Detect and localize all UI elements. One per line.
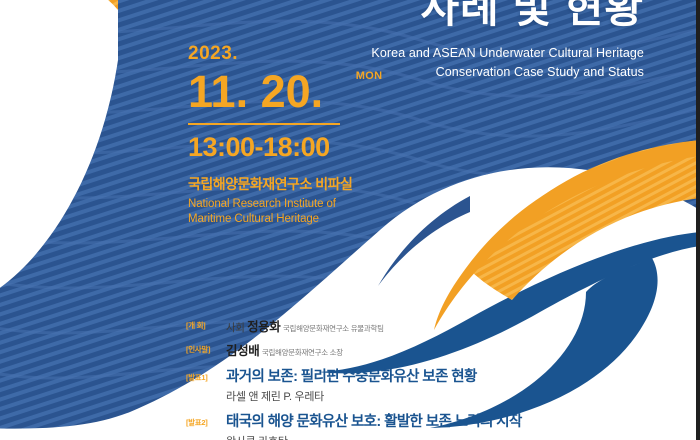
program-name-opening: 정용화: [247, 320, 280, 334]
program-person-opening: 사회 정용화 국립해양문화재연구소 유물과학팀: [226, 316, 656, 335]
event-time: 13:00-18:00: [188, 134, 352, 161]
program-row-opening: [개 회] 사회 정용화 국립해양문화재연구소 유물과학팀: [186, 316, 656, 335]
subtitle-english: Korea and ASEAN Underwater Cultural Heri…: [371, 44, 644, 83]
divider-rule: [188, 123, 340, 125]
venue-korean: 국립해양문화재연구소 비파실: [188, 174, 352, 194]
talk-row-2: [발표2] 태국의 해양 문화유산 보호: 활발한 보존 노력의 시작 왕사콘 …: [186, 413, 656, 440]
event-date: 11. 20. MON: [188, 69, 352, 114]
talk-tag-1: [발표1]: [186, 368, 226, 383]
right-edge-border: [696, 0, 700, 440]
program-tag-greeting: [인사말]: [186, 340, 226, 355]
event-details-block: 2023. 11. 20. MON 13:00-18:00 국립해양문화재연구소…: [188, 44, 352, 227]
program-name-greeting: 김성배: [226, 344, 259, 358]
page-title: 사례 및 현황: [371, 0, 644, 30]
poster-canvas: 사례 및 현황 Korea and ASEAN Underwater Cultu…: [0, 0, 700, 440]
venue-english-line-2: Maritime Cultural Heritage: [188, 212, 352, 227]
talk-speaker-1: 라셀 앤 제린 P. 우레타: [226, 388, 656, 404]
talk-title-2: 태국의 해양 문화유산 보호: 활발한 보존 노력의 시작: [226, 413, 656, 431]
program-tag-opening: [개 회]: [186, 316, 226, 331]
program-org-greeting: 국립해양문화재연구소 소장: [262, 348, 343, 357]
program-org-opening: 국립해양문화재연구소 유물과학팀: [283, 324, 384, 333]
talk-speaker-2: 왕사콘 라호탄: [226, 433, 656, 440]
venue-english: National Research Institute of Maritime …: [188, 197, 352, 227]
program-role-opening: 사회: [226, 322, 245, 334]
talk-title-1: 과거의 보존: 필리핀 수중문화유산 보존 현황: [226, 368, 656, 386]
event-daymonth: 11. 20.: [188, 66, 323, 117]
subtitle-line-1: Korea and ASEAN Underwater Cultural Heri…: [371, 44, 644, 63]
talk-row-1: [발표1] 과거의 보존: 필리핀 수중문화유산 보존 현황 라셀 앤 제린 P…: [186, 368, 656, 404]
program-list: [개 회] 사회 정용화 국립해양문화재연구소 유물과학팀 [인사말] 김성배 …: [186, 316, 656, 440]
event-weekday: MON: [356, 71, 383, 82]
program-row-greeting: [인사말] 김성배 국립해양문화재연구소 소장: [186, 340, 656, 359]
venue-english-line-1: National Research Institute of: [188, 197, 352, 212]
program-person-greeting: 김성배 국립해양문화재연구소 소장: [226, 340, 656, 359]
title-block: 사례 및 현황 Korea and ASEAN Underwater Cultu…: [371, 0, 644, 83]
subtitle-line-2: Conservation Case Study and Status: [371, 63, 644, 82]
event-year: 2023.: [188, 44, 352, 63]
talk-tag-2: [발표2]: [186, 413, 226, 428]
